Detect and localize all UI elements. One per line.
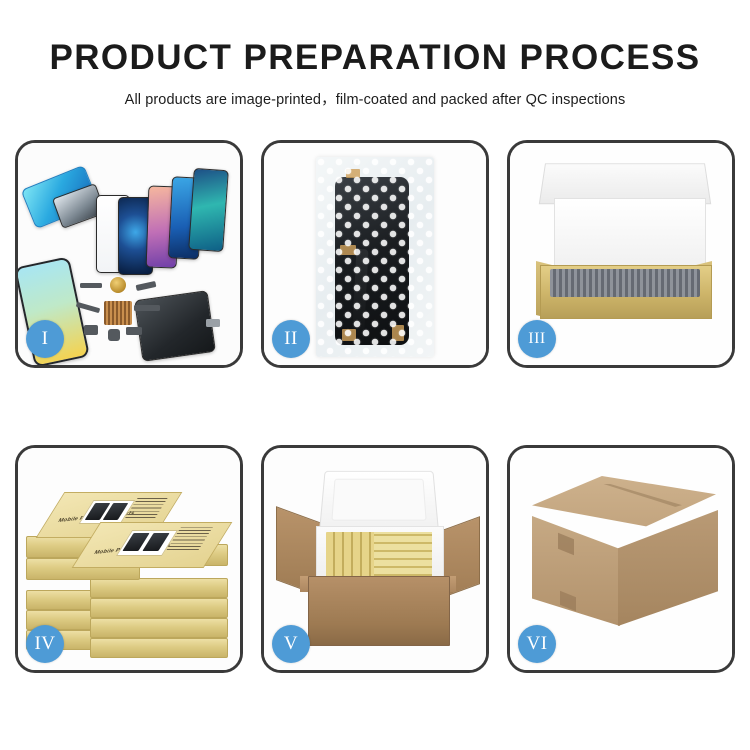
phone-screens-and-spare-parts-photo: I	[18, 143, 240, 365]
step-badge-2: II	[272, 320, 310, 358]
process-steps-grid: I II III	[15, 140, 735, 673]
bubble-wrapped-screen-photo: II	[264, 143, 486, 365]
carton-with-foam-cooler-photo: V	[264, 448, 486, 670]
bubble-wrapped-contents-graphic	[550, 269, 700, 297]
camera-module-graphic	[84, 325, 98, 335]
bubble-wrap-package	[316, 157, 434, 357]
page-subtitle: All products are image-printed，film-coat…	[0, 88, 750, 109]
step-badge-5: V	[272, 625, 310, 663]
step-panel-6: VI	[507, 445, 735, 673]
phone-back-housing-graphic	[134, 290, 216, 362]
carton-body-graphic	[308, 576, 450, 646]
sealed-shipping-carton-photo: VI	[510, 448, 732, 670]
step-panel-4: Mobile Phone Spare Parts Mobile Phone Sp…	[15, 445, 243, 673]
foam-lid-inner	[331, 479, 426, 521]
step-panel-3: III	[507, 140, 735, 368]
ribbon-cable-graphic	[134, 305, 160, 311]
chip-array-graphic	[104, 301, 132, 325]
open-kraft-box-with-foam-photo: III	[510, 143, 732, 365]
step-badge-3: III	[518, 320, 556, 358]
step-panel-2: II	[261, 140, 489, 368]
tweezers-graphic	[206, 319, 220, 327]
teal-phone-graphic	[188, 168, 229, 252]
page-header: PRODUCT PREPARATION PROCESS All products…	[0, 0, 750, 109]
speaker-part-graphic	[110, 277, 126, 293]
step-badge-4: IV	[26, 625, 64, 663]
stacked-box-right-3	[90, 618, 228, 638]
yellow-boxes-contents-stacked	[374, 532, 432, 582]
bubble-texture	[316, 157, 434, 357]
stacked-box-right-4	[90, 638, 228, 658]
small-part-graphic	[80, 283, 102, 288]
page-title: PRODUCT PREPARATION PROCESS	[0, 40, 750, 77]
step-badge-1: I	[26, 320, 64, 358]
step-panel-5: V	[261, 445, 489, 673]
foam-lid-graphic	[319, 471, 439, 530]
stacked-box-right-2	[90, 598, 228, 618]
step-badge-6: VI	[518, 625, 556, 663]
step-panel-1: I	[15, 140, 243, 368]
foam-sheet-graphic	[554, 198, 706, 272]
button-part-graphic	[108, 329, 120, 341]
sim-tray-graphic	[126, 327, 142, 335]
stacked-box-right-1	[90, 578, 228, 598]
stacked-spare-parts-boxes-photo: Mobile Phone Spare Parts Mobile Phone Sp…	[18, 448, 240, 670]
